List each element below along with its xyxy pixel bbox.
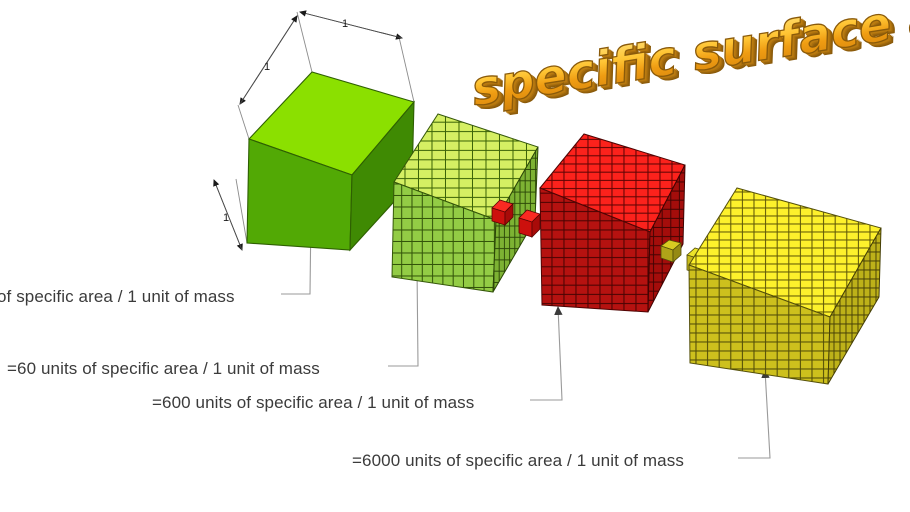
dimension-label-top: 1 [342, 18, 348, 30]
callout-label-2: =60 units of specific area / 1 unit of m… [7, 359, 320, 379]
leader-line-2 [388, 266, 418, 366]
scene-svg: specific surface area specific surface a… [0, 0, 910, 512]
page-title: specific surface area specific surface a… [468, 0, 910, 122]
leader-line-4 [738, 370, 770, 458]
yellow-subdivided-cube [689, 188, 881, 384]
green-solid-cube [247, 72, 414, 250]
dimension-arrow-top-left [300, 12, 402, 38]
green-subdivided-cube [392, 114, 540, 292]
leader-line-3 [530, 307, 562, 400]
dimension-witness-line [236, 179, 247, 243]
dimension-witness-line [399, 37, 414, 102]
red-subdivided-cube [540, 134, 708, 312]
diagram-canvas: specific surface area specific surface a… [0, 0, 910, 512]
dimension-witness-line [238, 105, 249, 139]
dimension-label-left-upper: 1 [264, 61, 270, 73]
dimension-witness-line [297, 12, 312, 72]
callout-label-3: =600 units of specific area / 1 unit of … [152, 393, 474, 413]
callout-label-4: =6000 units of specific area / 1 unit of… [352, 451, 684, 471]
callout-label-1: of specific area / 1 unit of mass [0, 287, 235, 307]
title-face: specific surface area [468, 0, 910, 117]
dimension-arrow-upperleft-up [240, 16, 297, 104]
dimension-label-left-lower: 1 [223, 212, 229, 224]
